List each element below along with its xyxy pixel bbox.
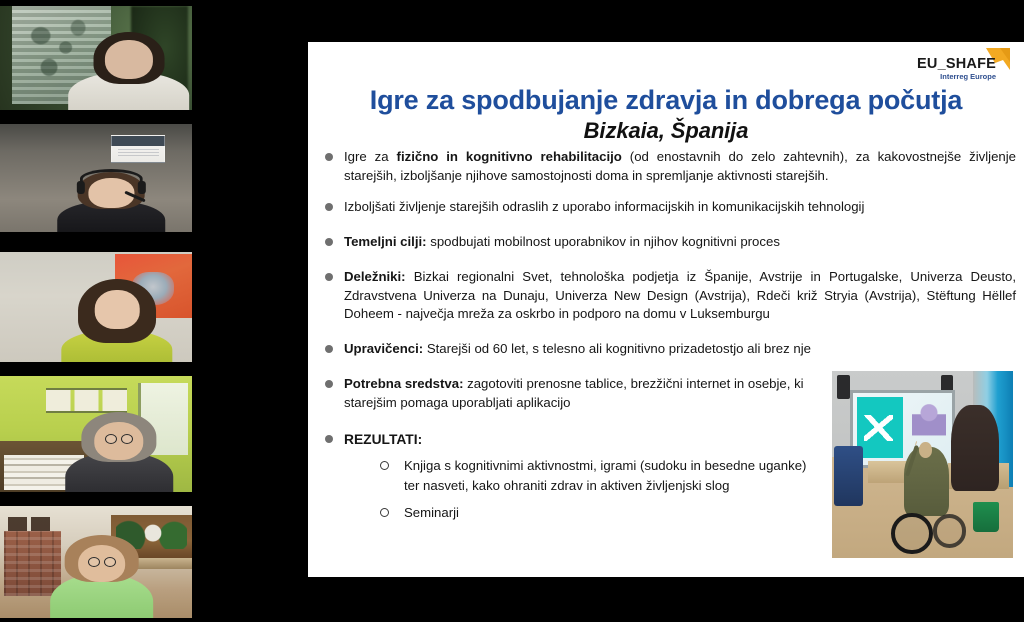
bullet-dot-icon (325, 435, 333, 443)
bullet-bold: Temeljni cilji: (344, 234, 427, 249)
bullet-rest: Izboljšati življenje starejših odraslih … (344, 199, 864, 214)
screen-share-view: EU_SHAFE Interreg Europe Igre za spodbuj… (0, 0, 1024, 622)
seated-person (904, 447, 949, 517)
bullet-dot-icon (325, 203, 333, 211)
glasses-icon (105, 434, 133, 444)
hand (915, 441, 917, 445)
bullet-dot-icon (325, 153, 333, 161)
bullet-rest: Bizkai regionalni Svet, tehnološka podje… (344, 269, 1016, 321)
bullet-bold: Deležniki: (344, 269, 406, 284)
raised-arm (905, 445, 919, 477)
participant-figure (65, 25, 192, 110)
bullet-bold: REZULTATI: (344, 432, 422, 447)
blue-bag (834, 446, 863, 506)
speaker-icon (837, 375, 850, 399)
bullet-bold: Potrebna sredstva: (344, 376, 463, 391)
wheel (891, 513, 932, 554)
bullet-lead: Igre za (344, 149, 397, 164)
person-head (919, 442, 931, 457)
eu-shafe-logo: EU_SHAFE Interreg Europe (900, 46, 1010, 86)
sub-bullet-text: Seminarji (404, 505, 459, 520)
bullet-bold: Upravičenci: (344, 341, 423, 356)
participant-figure (65, 408, 173, 492)
bullet-rest: spodbujati mobilnost uporabnikov in njih… (427, 234, 780, 249)
wall-poster-decor (111, 135, 165, 163)
participant-figure (61, 274, 172, 362)
bullet-rest: Starejši od 60 let, s telesno ali kognit… (423, 341, 811, 356)
slide-subtitle: Bizkaia, Španija (308, 118, 1024, 144)
shared-slide: EU_SHAFE Interreg Europe Igre za spodbuj… (308, 42, 1024, 577)
participant-tile-4[interactable] (0, 376, 192, 492)
logo-programme: Interreg Europe (940, 72, 996, 81)
slide-title: Igre za spodbujanje zdravja in dobrega p… (308, 86, 1024, 116)
bullet-item: Upravičenci: Starejši od 60 let, s teles… (318, 340, 1016, 359)
wheelchair-user (890, 442, 970, 554)
headset-icon (80, 169, 142, 189)
bullet-dot-icon (325, 273, 333, 281)
bullet-item: Temeljni cilji: spodbujati mobilnost upo… (318, 233, 1016, 252)
glasses-icon (88, 557, 116, 567)
participant-figure (50, 533, 154, 618)
participant-tile-5[interactable] (0, 506, 192, 618)
sub-bullet-ring-icon (380, 508, 389, 517)
bullet-bold: fizično in kognitivno rehabilitacijo (397, 149, 622, 164)
participant-figure (58, 165, 166, 232)
green-bin (973, 502, 998, 532)
wheel (933, 514, 966, 547)
bullet-item: Deležniki: Bizkai regionalni Svet, tehno… (318, 268, 1016, 324)
bullet-dot-icon (325, 238, 333, 246)
sub-bullet-ring-icon (380, 461, 389, 470)
participant-tile-3[interactable] (0, 252, 192, 362)
participant-filmstrip (0, 0, 192, 622)
bullet-dot-icon (325, 380, 333, 388)
bullet-item: Igre za fizično in kognitivno rehabilita… (318, 148, 1016, 185)
participant-tile-2[interactable] (0, 124, 192, 232)
classroom-photo (832, 371, 1013, 558)
bullet-dot-icon (325, 345, 333, 353)
logo-name: EU_SHAFE (917, 56, 996, 72)
participant-tile-1[interactable] (0, 6, 192, 110)
bullet-item: Izboljšati življenje starejših odraslih … (318, 198, 1016, 217)
sub-bullet-text: Knjiga s kognitivnimi aktivnostmi, igram… (404, 458, 806, 493)
